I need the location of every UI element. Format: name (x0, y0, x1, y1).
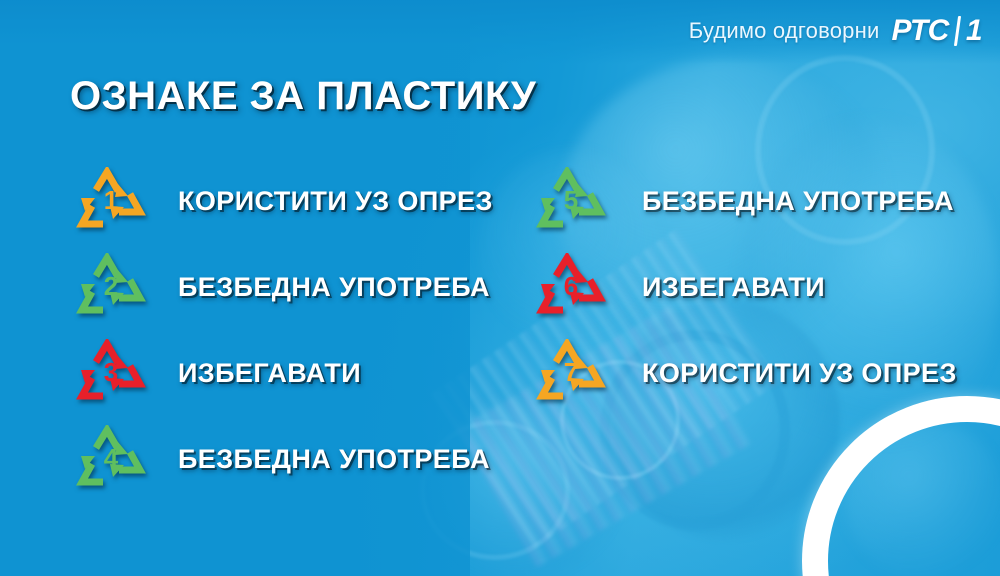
plastic-code-row[interactable]: 3 ИЗБЕГАВАТИ (72, 330, 493, 416)
recycle-triangle-icon: 7 (534, 339, 608, 407)
page-title: ОЗНАКЕ ЗА ПЛАСТИКУ (70, 74, 536, 119)
plastic-code-symbol-6: 6 (532, 253, 610, 321)
recycle-triangle-icon: 5 (534, 167, 608, 235)
recycle-triangle-icon: 6 (534, 253, 608, 321)
plastic-code-symbol-5: 5 (532, 167, 610, 235)
recycle-triangle-icon: 1 (74, 167, 148, 235)
recycle-triangle-icon: 3 (74, 339, 148, 407)
plastic-code-number: 5 (564, 185, 578, 215)
plastic-code-symbol-7: 7 (532, 339, 610, 407)
infographic-slide: Будимо одговорни РТС 1 ОЗНАКЕ ЗА ПЛАСТИК… (0, 0, 1000, 576)
white-arc-decoration (802, 396, 1000, 576)
plastic-code-label: ИЗБЕГАВАТИ (642, 272, 825, 303)
plastic-code-row[interactable]: 2 БЕЗБЕДНА УПОТРЕБА (72, 244, 493, 330)
plastic-code-label: БЕЗБЕДНА УПОТРЕБА (642, 186, 954, 217)
plastic-code-symbol-1: 1 (72, 167, 150, 235)
rts-logo-text: РТС (891, 14, 948, 48)
plastic-code-label: БЕЗБЕДНА УПОТРЕБА (178, 444, 490, 475)
plastic-code-number: 4 (104, 443, 119, 473)
channel-header: Будимо одговорни РТС 1 (689, 14, 982, 48)
plastic-code-row[interactable]: 4 БЕЗБЕДНА УПОТРЕБА (72, 416, 493, 502)
plastic-code-number: 2 (104, 271, 118, 301)
plastic-code-row[interactable]: 6 ИЗБЕГАВАТИ (532, 244, 957, 330)
plastic-code-number: 7 (564, 357, 578, 387)
plastic-code-number: 6 (564, 271, 578, 301)
plastic-code-label: КОРИСТИТИ УЗ ОПРЕЗ (642, 358, 957, 389)
plastic-code-symbol-2: 2 (72, 253, 150, 321)
rts-logo-channel-number: 1 (966, 14, 982, 48)
plastic-codes-right-column: 5 БЕЗБЕДНА УПОТРЕБА 6 ИЗБЕГАВАТИ (532, 158, 957, 416)
plastic-code-row[interactable]: 7 КОРИСТИТИ УЗ ОПРЕЗ (532, 330, 957, 416)
plastic-code-symbol-3: 3 (72, 339, 150, 407)
plastic-code-label: ИЗБЕГАВАТИ (178, 358, 361, 389)
plastic-code-number: 1 (104, 185, 118, 215)
recycle-triangle-icon: 4 (74, 425, 148, 493)
recycle-triangle-icon: 2 (74, 253, 148, 321)
plastic-code-symbol-4: 4 (72, 425, 150, 493)
plastic-code-row[interactable]: 1 КОРИСТИТИ УЗ ОПРЕЗ (72, 158, 493, 244)
plastic-code-label: КОРИСТИТИ УЗ ОПРЕЗ (178, 186, 493, 217)
plastic-codes-left-column: 1 КОРИСТИТИ УЗ ОПРЕЗ 2 БЕЗБЕДНА УПОТРЕБА (72, 158, 493, 502)
rts-logo-divider-icon (954, 16, 961, 46)
plastic-code-number: 3 (104, 357, 118, 387)
rts-logo: РТС 1 (891, 14, 982, 48)
plastic-code-row[interactable]: 5 БЕЗБЕДНА УПОТРЕБА (532, 158, 957, 244)
header-slogan: Будимо одговорни (689, 18, 880, 44)
plastic-code-label: БЕЗБЕДНА УПОТРЕБА (178, 272, 490, 303)
